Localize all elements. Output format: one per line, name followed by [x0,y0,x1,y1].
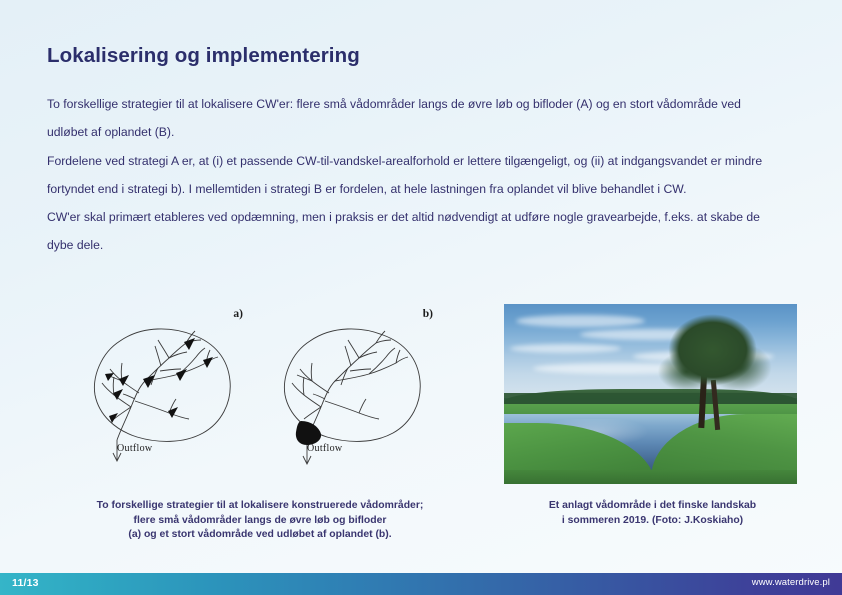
photo-grass-foreground [504,470,797,484]
diagram-caption: To forskellige strategier til at lokalis… [55,499,465,543]
footer-bar: 11/13 www.waterdrive.pl [0,573,842,595]
watershed-figure-group: a) Outflow [60,303,460,483]
photo-caption-line-2: i sommeren 2019. (Foto: J.Koskiaho) [500,514,805,529]
cloud-shape [510,344,621,353]
wetland-photo [504,304,797,484]
diagram-caption-line-1: To forskellige strategier til at lokalis… [55,499,465,514]
page-title: Lokalisering og implementering [47,44,360,68]
photo-caption-line-1: Et anlagt vådområde i det finske landska… [500,499,805,514]
body-paragraph-1: To forskellige strategier til at lokalis… [47,90,763,147]
footer-url[interactable]: www.waterdrive.pl [752,577,830,588]
watershed-diagram-b: b) Outflow [255,303,445,483]
body-text-block: To forskellige strategier til at lokalis… [47,90,763,260]
body-paragraph-2: Fordelene ved strategi A er, at (i) et p… [47,147,763,204]
photo-scene [504,304,797,484]
watershed-b-icon [255,303,445,483]
diagram-caption-line-3: (a) og et stort vådområde ved udløbet af… [55,528,465,543]
watershed-diagram-a: a) Outflow [65,303,255,483]
watershed-a-icon [65,303,255,483]
slide-canvas: Lokalisering og implementering To forske… [0,0,842,595]
photo-caption: Et anlagt vådområde i det finske landska… [500,499,805,528]
body-paragraph-3: CW'er skal primært etableres ved opdæmni… [47,203,763,260]
diagram-caption-line-2: flere små vådområder langs de øvre løb o… [55,514,465,529]
figure-label-b: b) [423,308,433,320]
figure-label-a: a) [233,308,243,320]
figure-a-outflow-label: Outflow [117,443,152,454]
figure-b-outflow-label: Outflow [307,443,342,454]
photo-pine-tree [656,311,773,419]
page-number: 11/13 [12,577,39,589]
